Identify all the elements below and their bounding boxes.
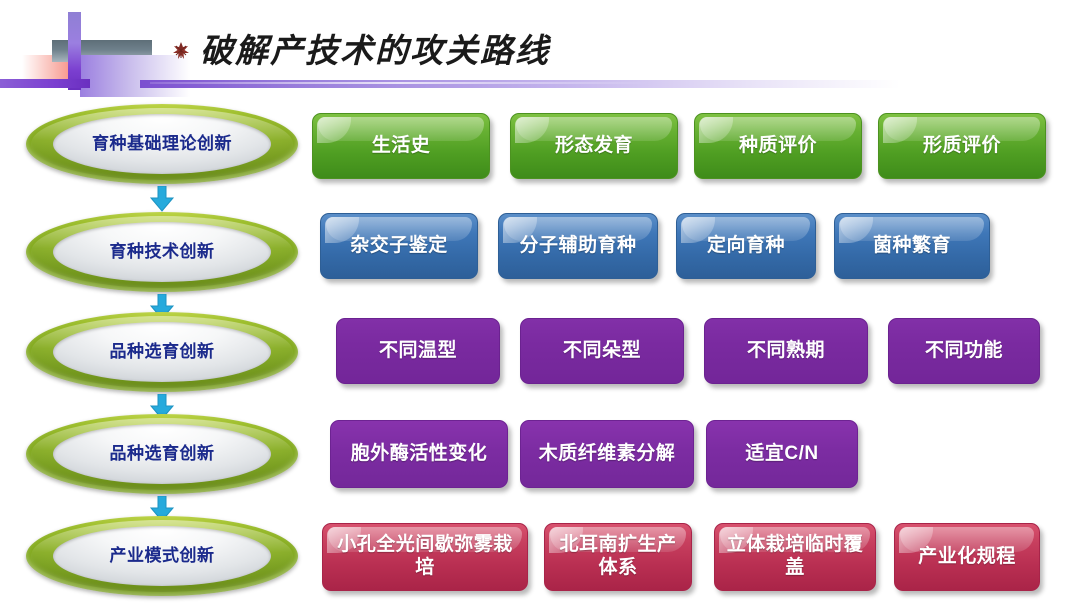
card-label: 适宜C/N [739, 443, 824, 466]
card-blue-3[interactable]: 定向育种 [676, 213, 816, 279]
card-purple-4[interactable]: 不同功能 [888, 318, 1040, 384]
arrow-down-icon [149, 186, 175, 212]
card-purple-2[interactable]: 不同朵型 [520, 318, 684, 384]
oval-face: 产业模式创新 [53, 526, 271, 586]
oval-face: 品种选育创新 [53, 322, 271, 382]
card-crimson-1[interactable]: 小孔全光间歇弥雾栽培 [322, 523, 528, 591]
card-label: 生活史 [366, 135, 437, 158]
card-row-variety-types: 不同温型 不同朵型 不同熟期 不同功能 [312, 318, 1072, 390]
ornament-bullet-icon [170, 40, 192, 62]
slide-header: 破解产技术的攻关路线 [0, 0, 1080, 100]
card-blue-1[interactable]: 杂交子鉴定 [320, 213, 478, 279]
flow-node-label: 产业模式创新 [67, 546, 257, 566]
header-rule-highlight [150, 82, 650, 84]
card-green-4[interactable]: 形质评价 [878, 113, 1046, 179]
flow-node-label: 品种选育创新 [67, 342, 257, 362]
card-purple-3[interactable]: 不同熟期 [704, 318, 868, 384]
oval-face: 育种基础理论创新 [53, 114, 271, 174]
card-corner-gloss [317, 117, 351, 143]
card-label: 定向育种 [701, 235, 791, 258]
flow-node-2[interactable]: 育种技术创新 [26, 212, 298, 292]
card-label: 立体栽培临时覆盖 [715, 534, 875, 580]
card-violet-3[interactable]: 适宜C/N [706, 420, 858, 488]
flow-column: 育种基础理论创新 育种技术创新 品种选育创新 [26, 104, 316, 604]
flow-node-3[interactable]: 品种选育创新 [26, 312, 298, 392]
card-label: 不同温型 [373, 340, 463, 363]
flow-node-5[interactable]: 产业模式创新 [26, 516, 298, 596]
page-title: 破解产技术的攻关路线 [200, 24, 550, 72]
card-label: 不同熟期 [741, 340, 831, 363]
card-label: 形态发育 [549, 135, 639, 158]
flow-node-4[interactable]: 品种选育创新 [26, 414, 298, 494]
card-label: 不同朵型 [557, 340, 647, 363]
oval-face: 品种选育创新 [53, 424, 271, 484]
card-row-breeding-tech: 杂交子鉴定 分子辅助育种 定向育种 菌种繁育 [312, 213, 1072, 285]
card-blue-4[interactable]: 菌种繁育 [834, 213, 990, 279]
card-label: 分子辅助育种 [513, 235, 642, 258]
card-label: 小孔全光间歇弥雾栽培 [323, 534, 527, 580]
card-row-physiology: 胞外酶活性变化 木质纤维素分解 适宜C/N [312, 420, 1072, 492]
card-label: 胞外酶活性变化 [345, 443, 494, 466]
card-row-life-history: 生活史 形态发育 种质评价 形质评价 [312, 113, 1072, 185]
card-label: 杂交子鉴定 [344, 235, 454, 258]
flow-node-label: 育种技术创新 [67, 242, 257, 262]
card-label: 不同功能 [919, 340, 1009, 363]
card-green-1[interactable]: 生活史 [312, 113, 490, 179]
card-label: 木质纤维素分解 [533, 443, 682, 466]
card-label: 种质评价 [733, 135, 823, 158]
card-green-2[interactable]: 形态发育 [510, 113, 678, 179]
card-violet-2[interactable]: 木质纤维素分解 [520, 420, 694, 488]
flow-node-1[interactable]: 育种基础理论创新 [26, 104, 298, 184]
oval-face: 育种技术创新 [53, 222, 271, 282]
card-label: 产业化规程 [912, 546, 1022, 569]
card-crimson-3[interactable]: 立体栽培临时覆盖 [714, 523, 876, 591]
flow-node-label: 育种基础理论创新 [67, 134, 257, 154]
slide-canvas: 破解产技术的攻关路线 育种基础理论创新 育种技术创新 [0, 0, 1080, 607]
flow-node-label: 品种选育创新 [67, 444, 257, 464]
card-crimson-2[interactable]: 北耳南扩生产体系 [544, 523, 692, 591]
card-violet-1[interactable]: 胞外酶活性变化 [330, 420, 508, 488]
card-corner-gloss [883, 117, 917, 143]
card-row-industry-model: 小孔全光间歇弥雾栽培 北耳南扩生产体系 立体栽培临时覆盖 产业化规程 [312, 523, 1072, 597]
card-label: 北耳南扩生产体系 [545, 534, 691, 580]
card-blue-2[interactable]: 分子辅助育种 [498, 213, 658, 279]
card-crimson-4[interactable]: 产业化规程 [894, 523, 1040, 591]
card-label: 菌种繁育 [867, 235, 957, 258]
card-label: 形质评价 [917, 135, 1007, 158]
card-corner-gloss [515, 117, 549, 143]
card-green-3[interactable]: 种质评价 [694, 113, 862, 179]
card-purple-1[interactable]: 不同温型 [336, 318, 500, 384]
card-corner-gloss [699, 117, 733, 143]
header-rule-left [0, 79, 90, 88]
